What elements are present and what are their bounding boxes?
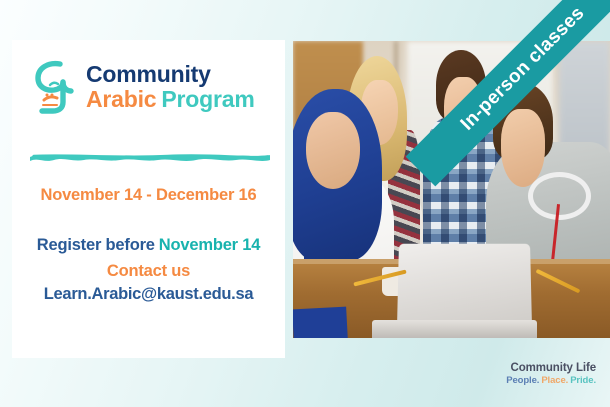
contact-email[interactable]: Learn.Arabic@kaust.edu.sa [12,285,285,304]
brand-titles: Community ArabicProgram [86,62,255,112]
community-life-title: Community Life [506,361,596,375]
brand-row: Community ArabicProgram [30,58,255,116]
students-photo [293,41,610,338]
photo-notebook [293,307,348,338]
brand-line-arabic-program: ArabicProgram [86,87,255,112]
photo-person-denim-face [501,109,545,186]
photo-scene [293,41,610,338]
brand-line-community: Community [86,62,255,87]
tagline-place: Place. [541,375,568,386]
community-life-logo: Community Life People.Place.Pride. [506,361,596,387]
brand-word-program: Program [161,86,254,112]
tagline-people: People. [506,375,539,386]
brand-word-arabic: Arabic [86,86,156,112]
photo-laptop-base [372,320,537,338]
course-dates: November 14 - December 16 [12,186,285,205]
teal-brush-stroke-icon [28,148,272,164]
register-deadline: November 14 [159,236,260,254]
poster-canvas: In-person classes Community ArabicProgra… [0,0,610,407]
tagline-pride: Pride. [570,375,596,386]
photo-person-hijab-face [306,112,360,189]
contact-us-label: Contact us [12,262,285,281]
arabic-ain-letter-icon [30,58,76,116]
info-card: Community ArabicProgram November 14 - De… [12,40,285,358]
register-prefix: Register before [37,236,155,254]
photo-laptop-screen [397,244,532,327]
register-line: Register beforeNovember 14 [12,236,285,255]
community-life-tagline: People.Place.Pride. [506,375,596,387]
